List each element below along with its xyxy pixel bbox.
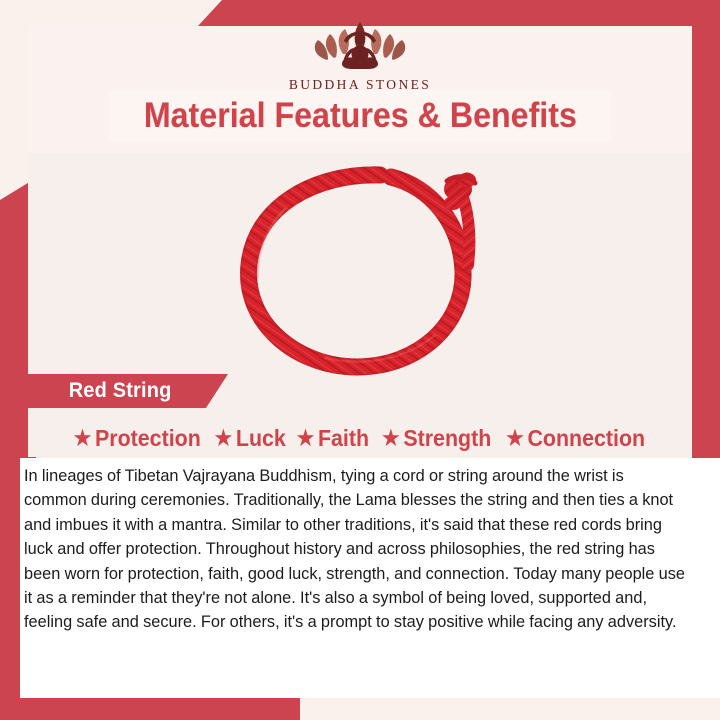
product-label-banner: Red String	[0, 374, 228, 408]
star-icon: ★	[214, 428, 232, 449]
description-panel: In lineages of Tibetan Vajrayana Buddhis…	[20, 458, 720, 698]
lotus-meditation-icon	[300, 14, 420, 74]
feature-label: Protection	[95, 425, 201, 452]
feature-label: Faith	[318, 425, 369, 452]
feature-label: Connection	[528, 425, 646, 452]
brand-name: BUDDHA STONES	[289, 77, 431, 93]
feature-item-connection: ★ Connection	[507, 425, 646, 452]
feature-item-strength: ★ Strength	[382, 425, 491, 452]
feature-item-faith: ★ Faith	[297, 425, 369, 452]
features-list: ★ Protection ★ Luck ★ Faith ★ Strength ★…	[28, 419, 692, 457]
star-icon: ★	[507, 428, 525, 449]
feature-item-protection: ★ Protection	[74, 425, 201, 452]
feature-label: Strength	[403, 425, 491, 452]
poster-root: BUDDHA STONES Material Features & Benefi…	[0, 0, 720, 720]
red-string-bracelet-image	[225, 153, 495, 388]
feature-item-luck: ★ Luck	[214, 425, 285, 452]
page-title: Material Features & Benefits	[143, 96, 576, 136]
star-icon: ★	[297, 428, 315, 449]
star-icon: ★	[382, 428, 400, 449]
title-banner: Material Features & Benefits	[108, 90, 612, 142]
product-label: Red String	[69, 379, 172, 403]
star-icon: ★	[74, 428, 92, 449]
product-image-area	[0, 150, 720, 390]
decor-bar-bottom	[0, 698, 300, 720]
feature-label: Luck	[236, 425, 286, 452]
brand-logo: BUDDHA STONES	[0, 14, 720, 93]
description-text: In lineages of Tibetan Vajrayana Buddhis…	[24, 464, 688, 635]
